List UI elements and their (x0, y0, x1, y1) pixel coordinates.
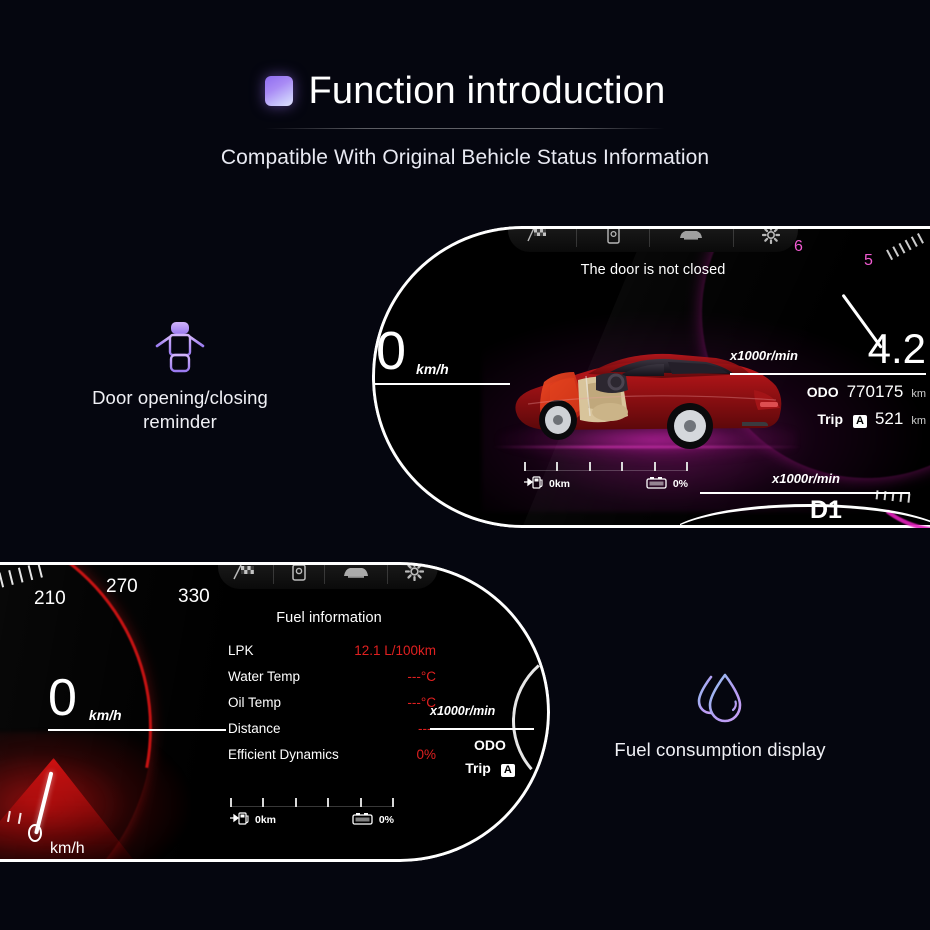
peek-tach-zero: 0 (876, 470, 885, 474)
speedo-needle-unit: km/h (50, 840, 85, 858)
odo-label: ODO (807, 384, 839, 400)
battery-icon (646, 476, 668, 492)
trip-badge: A (853, 415, 867, 428)
speedo-tick-210: 210 (34, 588, 66, 610)
icon-bar-divider (387, 564, 388, 584)
tach-tick-6: 6 (794, 238, 803, 256)
title-divider (265, 128, 665, 129)
speedometer-needle-hub (28, 824, 42, 842)
trip-badge: A (501, 764, 515, 777)
callout-door-label-line2: reminder (42, 410, 318, 434)
car-front-icon[interactable] (678, 227, 704, 247)
battery-icon (352, 812, 374, 828)
rpm-odo-block-bottom: x1000r/min ODO TripA (430, 704, 550, 777)
fuel-pump-icon (230, 812, 250, 828)
icon-bar-divider (733, 227, 734, 247)
fuel-value: 12.1 L/100km (354, 643, 436, 658)
rpm-underline (430, 728, 534, 730)
fuel-key: Water Temp (228, 669, 300, 684)
callout-door-opening-closing: Door opening/closing reminder (42, 318, 318, 435)
callout-fuel-consumption: Fuel consumption display (578, 668, 862, 762)
speed-unit: km/h (416, 361, 449, 377)
fuel-pump-icon (524, 476, 544, 492)
instrument-cluster-bottom[interactable]: 210 270 330 km/h 0 km/h (0, 562, 550, 862)
car-front-icon[interactable] (342, 564, 370, 585)
consumption-strip-bottom: 0km 0% (230, 798, 394, 828)
trip-unit: km (911, 415, 926, 427)
icon-bar-divider (576, 227, 577, 247)
rpm-unit: x1000r/min (430, 704, 495, 724)
racing-flags-icon[interactable] (232, 564, 256, 585)
fuel-row-water-temp: Water Temp ---°C (218, 663, 440, 689)
speed-value: 0 (48, 674, 77, 723)
cluster-bottom-icon-bar[interactable] (218, 562, 438, 589)
fuel-canister-icon[interactable] (606, 226, 621, 249)
strip-baseline (230, 806, 394, 807)
fuel-value: ---°C (407, 669, 436, 684)
rpm-odo-block-top: x1000r/min 4.2 ODO 770175 km TripA 521 k… (730, 330, 926, 429)
callout-fuel-label: Fuel consumption display (578, 738, 862, 762)
peek-rpm-underline (700, 492, 910, 494)
fuel-key: LPK (228, 643, 254, 658)
trip-label: Trip (465, 760, 491, 776)
fuel-key: Distance (228, 721, 281, 736)
page-title: Function introduction (309, 72, 666, 110)
instrument-cluster-peek: x1000r/min 0 D1 (680, 470, 930, 528)
speed-underline (48, 729, 226, 731)
fuel-range-value: 0km (549, 478, 570, 490)
water-droplets-icon (578, 668, 862, 730)
odo-value: 770175 (847, 382, 904, 402)
gear-icon[interactable] (762, 226, 780, 249)
odometer-row: ODO (430, 737, 550, 753)
speed-underline (374, 383, 510, 385)
speedo-tick-330: 330 (178, 586, 210, 608)
fuel-key: Efficient Dynamics (228, 747, 339, 762)
speedo-tick-270: 270 (106, 576, 138, 598)
callout-door-label-line1: Door opening/closing (42, 386, 318, 410)
trip-value: 521 (875, 409, 903, 429)
trip-label: Trip (817, 411, 843, 427)
racing-flags-icon[interactable] (526, 227, 548, 247)
fuel-row-efficient-dynamics: Efficient Dynamics 0% (218, 741, 440, 767)
car-open-doors-icon (42, 318, 318, 376)
speed-unit: km/h (89, 707, 122, 723)
cluster-top-icon-bar[interactable] (508, 226, 798, 252)
trip-row: TripA 521 km (730, 409, 926, 429)
page-subtitle: Compatible With Original Behicle Status … (0, 146, 930, 170)
icon-bar-divider (273, 564, 274, 584)
fuel-canister-icon[interactable] (291, 562, 307, 586)
rpm-value: 4.2 (868, 330, 926, 369)
title-row: Function introduction (0, 72, 930, 110)
fuel-information-panel: Fuel information LPK 12.1 L/100km Water … (218, 610, 440, 767)
gear-icon[interactable] (405, 562, 424, 586)
fuel-range-value: 0km (255, 814, 276, 826)
peek-rpm-unit: x1000r/min (772, 471, 840, 486)
fuel-row-distance: Distance ---- (218, 715, 440, 741)
fuel-row-lpk: LPK 12.1 L/100km (218, 637, 440, 663)
speedometer-readout-bottom: 0 km/h (48, 674, 238, 731)
odo-unit: km (911, 388, 926, 400)
fuel-information-title: Fuel information (218, 610, 440, 626)
speed-value: 0 (376, 326, 406, 377)
title-badge-icon (265, 76, 293, 106)
consumption-strip-top: 0km 0% (524, 462, 688, 492)
fuel-key: Oil Temp (228, 695, 281, 710)
page-header: Function introduction Compatible With Or… (0, 0, 930, 200)
odo-label: ODO (474, 737, 506, 753)
fuel-row-oil-temp: Oil Temp ---°C (218, 689, 440, 715)
rpm-underline (730, 373, 926, 375)
strip-baseline (524, 470, 688, 471)
odometer-row: ODO 770175 km (730, 382, 926, 402)
rpm-unit: x1000r/min (730, 348, 798, 369)
door-warning-message: The door is not closed (508, 262, 798, 278)
icon-bar-divider (324, 564, 325, 584)
trip-row: TripA (430, 760, 550, 777)
tach-tick-5: 5 (864, 252, 873, 270)
icon-bar-divider (649, 227, 650, 247)
battery-level-value: 0% (379, 814, 394, 826)
